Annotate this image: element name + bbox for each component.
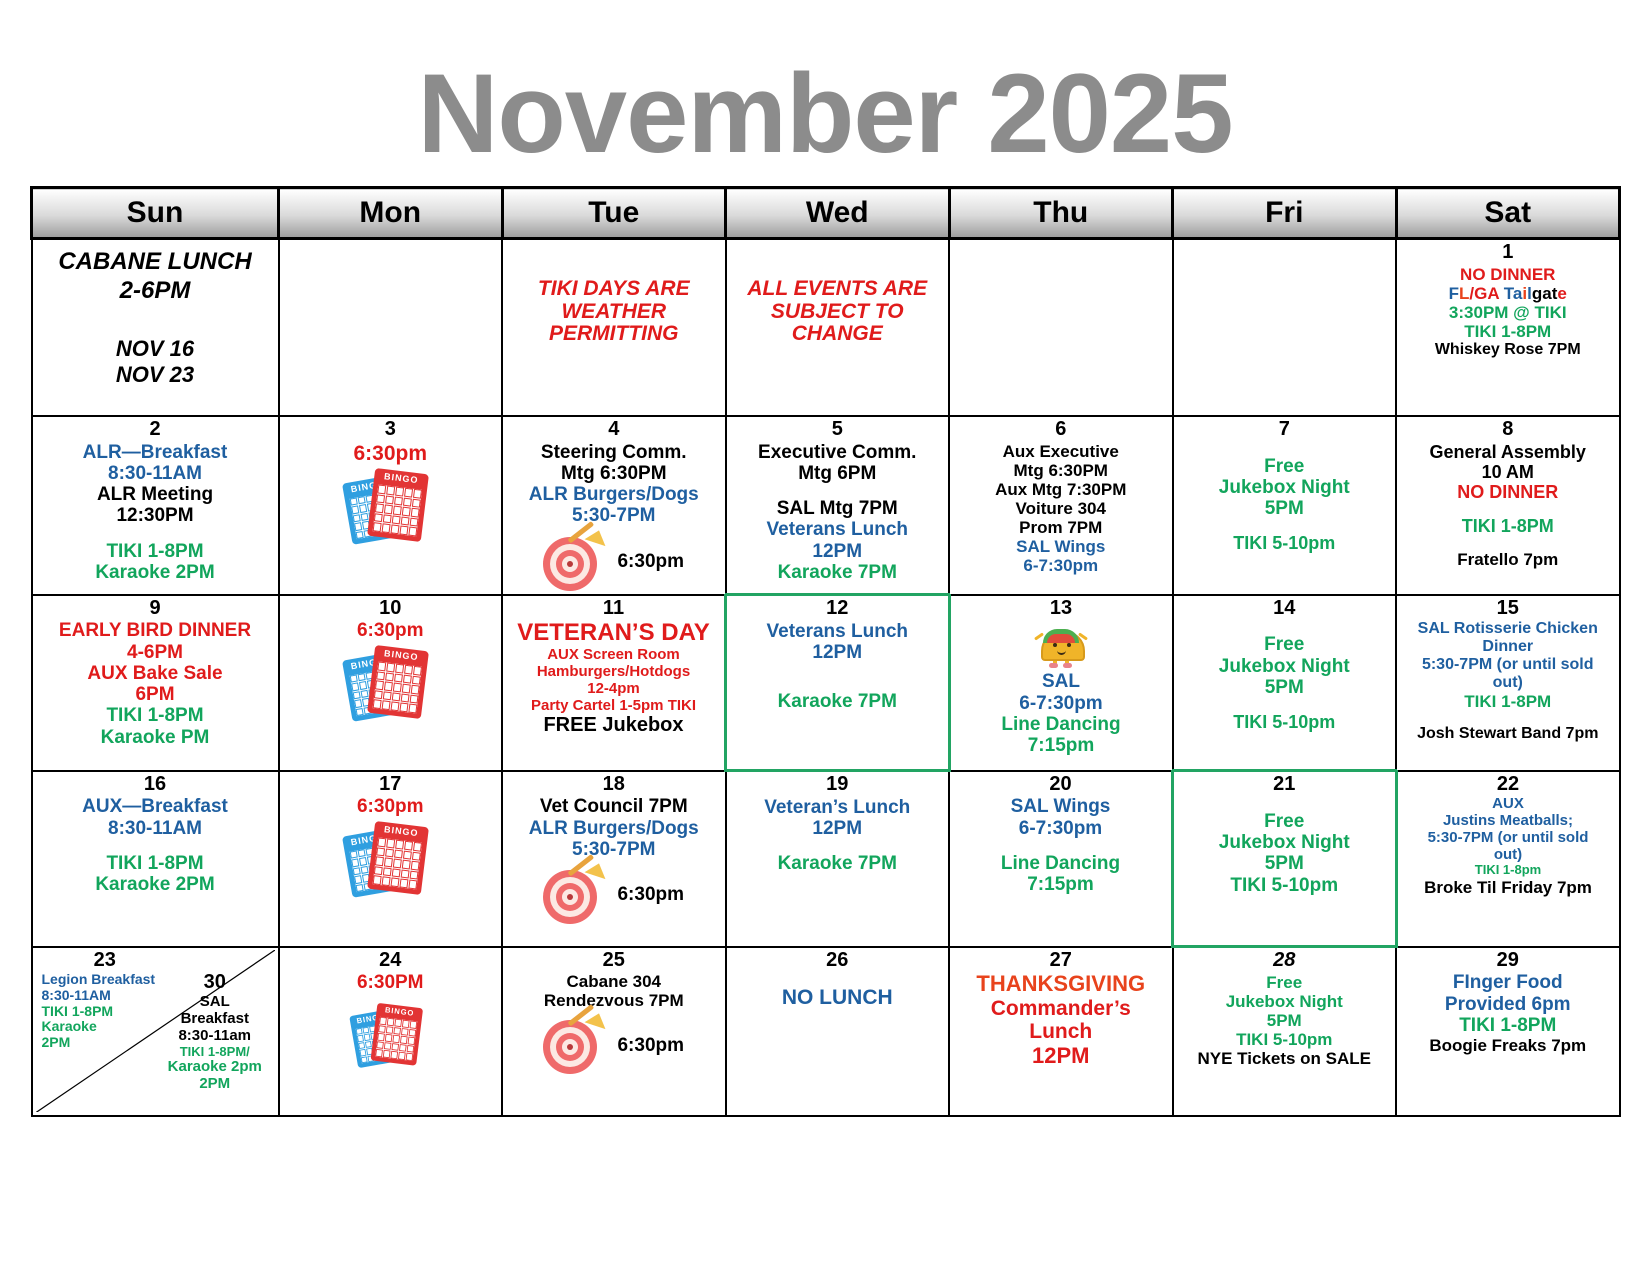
calendar-day-cell-16[interactable]: 16AUX—Breakfast 8:30-11AMTIKI 1-8PM Kara… xyxy=(32,771,279,947)
bingo-icon: BINGOBINGO xyxy=(347,469,433,545)
calendar-day-cell-empty[interactable]: ALL EVENTS ARE SUBJECT TO CHANGE xyxy=(726,239,950,417)
day-23-part[interactable]: 23Legion Breakfast8:30-11AMTIKI 1-8PMKar… xyxy=(36,950,175,1051)
spacer xyxy=(953,839,1168,853)
day-events: NO DINNERFL/GA Tailgate3:30PM @ TIKITIKI… xyxy=(1400,265,1616,359)
day-number-10: 10 xyxy=(283,598,499,620)
calendar-day-cell-24[interactable]: 246:30PMBINGOBINGO xyxy=(279,947,503,1117)
calendar-day-cell-22[interactable]: 22AUXJustins Meatballs;5:30-7PM (or unti… xyxy=(1396,771,1620,947)
spacer xyxy=(1177,519,1393,533)
day-number-28: 28 xyxy=(1177,950,1393,972)
day-number-2: 2 xyxy=(36,419,275,441)
bingo-icon: BINGOBINGO xyxy=(347,646,433,722)
day-number-24: 24 xyxy=(283,950,499,972)
spacer xyxy=(730,663,945,677)
event-line: Aux Mtg 7:30PM Voiture 304 Prom 7PM xyxy=(953,480,1169,537)
calendar-day-cell-12[interactable]: 12Veterans Lunch 12PMKaraoke 7PM xyxy=(726,595,950,771)
calendar-day-cell-28[interactable]: 28Free Jukebox Night 5PMTIKI 5-10pmNYE T… xyxy=(1173,947,1397,1117)
event-line: Veterans Lunch 12PM xyxy=(730,621,945,664)
icon-wrapper xyxy=(954,623,1169,671)
day-events: Free Jukebox Night 5PMTIKI 5-10pmNYE Tic… xyxy=(1177,973,1393,1068)
event-line: 6:30pm xyxy=(617,884,684,905)
calendar-day-cell-8[interactable]: 8General Assembly 10 AMNO DINNERTIKI 1-8… xyxy=(1396,416,1620,595)
event-line: SAL Mtg 7PM xyxy=(730,498,946,519)
day-events: EARLY BIRD DINNER 4-6PM AUX Bake Sale 6P… xyxy=(36,620,275,748)
day-events: Executive Comm. Mtg 6PMSAL Mtg 7PMVetera… xyxy=(730,442,946,584)
event-line: ALR Meeting 12:30PM xyxy=(36,484,275,527)
day-events: Free Jukebox Night 5PMTIKI 5-10pm xyxy=(1177,442,1393,554)
event-line-fl-ga-tailgate: FL/GA Tailgate xyxy=(1400,284,1616,303)
day-events: NO LUNCH xyxy=(730,972,946,1010)
day-number-25: 25 xyxy=(506,950,722,972)
calendar-day-cell-13[interactable]: 13SAL 6-7:30pmLine Dancing 7:15pm xyxy=(949,595,1173,771)
spacer xyxy=(1400,711,1616,725)
event-line: 8:30-11am xyxy=(155,1028,275,1045)
calendar-day-cell-empty[interactable] xyxy=(1173,239,1397,417)
event-line: TIKI 1-8PM Karaoke 2PM xyxy=(36,853,275,896)
spacer xyxy=(1177,797,1392,811)
event-line: ALR—Breakfast 8:30-11AM xyxy=(36,442,275,485)
page-title: November 2025 xyxy=(0,58,1650,170)
day-events: AUX—Breakfast 8:30-11AMTIKI 1-8PM Karaok… xyxy=(36,796,275,895)
event-line: 6:30pm xyxy=(283,796,499,817)
event-line: 12-4pm xyxy=(506,681,721,698)
event-line: TIKI 1-8PM xyxy=(1400,516,1616,536)
dartboard-icon xyxy=(543,866,605,924)
event-line: TIKI 1-8PM xyxy=(1400,1015,1616,1036)
day-number-30: 30 xyxy=(155,972,275,994)
day-events: FInger Food Provided 6pmTIKI 1-8PMBoogie… xyxy=(1400,972,1616,1055)
calendar-day-cell-20[interactable]: 20SAL Wings 6-7:30pmLine Dancing 7:15pm xyxy=(949,771,1173,947)
weekday-header-sun: Sun xyxy=(32,188,279,239)
event-line: TIKI 1-8PM Karaoke 2PM xyxy=(36,541,275,584)
spacer xyxy=(1400,502,1616,516)
weekday-header-thu: Thu xyxy=(949,188,1173,239)
event-line: TIKI 5-10pm xyxy=(1177,875,1392,896)
event-line: Line Dancing 7:15pm xyxy=(953,853,1168,896)
event-line: Karaoke 7PM xyxy=(730,853,946,874)
event-line: ALR Burgers/Dogs 5:30-7PM xyxy=(506,818,722,861)
event-line: General Assembly 10 AM xyxy=(1400,442,1616,482)
calendar-day-cell-10[interactable]: 106:30pmBINGOBINGO xyxy=(279,595,503,771)
event-line: TIKI 1-8PM xyxy=(1400,322,1616,341)
event-line: Free Jukebox Night 5PM xyxy=(1177,456,1393,520)
day-events: Aux Executive Mtg 6:30PMAux Mtg 7:30PM V… xyxy=(953,442,1169,575)
icon-wrapper: BINGOBINGO xyxy=(283,469,499,545)
event-line: Justins Meatballs; xyxy=(1401,813,1616,830)
event-line: Broke Til Friday 7pm xyxy=(1401,878,1616,897)
calendar-page: November 2025 Sun Mon Tue Wed Thu Fri Sa… xyxy=(0,0,1650,1275)
day-30-part[interactable]: 30SAL Breakfast8:30-11amTIKI 1-8PM/Karao… xyxy=(155,972,275,1093)
spacer xyxy=(36,527,275,541)
calendar-week-row: 23Legion Breakfast8:30-11AMTIKI 1-8PMKar… xyxy=(32,947,1620,1117)
day-events: 6:30pmBINGOBINGO xyxy=(283,796,499,897)
day-events: Veteran’s Lunch 12PMKaraoke 7PM xyxy=(730,797,946,875)
day-number-7: 7 xyxy=(1177,419,1393,441)
spacer xyxy=(730,484,946,498)
calendar-day-cell-14[interactable]: 14Free Jukebox Night 5PMTIKI 5-10pm xyxy=(1173,595,1397,771)
event-line: SAL Breakfast xyxy=(155,994,275,1028)
event-line: 3:30PM @ TIKI xyxy=(1400,303,1616,322)
event-line: Commander’s Lunch xyxy=(953,997,1169,1044)
event-line: FInger Food Provided 6pm xyxy=(1400,972,1616,1015)
icon-with-time: 6:30pm xyxy=(506,533,722,591)
weekday-header-sat: Sat xyxy=(1396,188,1620,239)
event-line: Cabane 304 Rendezvous 7PM xyxy=(506,972,722,1010)
event-line: TIKI 5-10pm xyxy=(1177,1030,1393,1049)
dartboard-icon xyxy=(543,1016,605,1074)
event-line: NYE Tickets on SALE xyxy=(1177,1049,1393,1068)
spacer xyxy=(730,839,946,853)
calendar-day-cell-23[interactable]: 23Legion Breakfast8:30-11AMTIKI 1-8PMKar… xyxy=(32,947,279,1117)
event-line: SAL 6-7:30pm xyxy=(954,671,1169,714)
event-line: THANKSGIVING xyxy=(953,972,1169,997)
spacer xyxy=(1177,620,1393,634)
event-line: TIKI 1-8pm xyxy=(1401,863,1616,878)
day-number-21: 21 xyxy=(1177,774,1392,796)
day-number-6: 6 xyxy=(953,419,1169,441)
calendar-day-cell-5[interactable]: 5Executive Comm. Mtg 6PMSAL Mtg 7PMVeter… xyxy=(726,416,950,595)
calendar-day-cell-1[interactable]: 1NO DINNERFL/GA Tailgate3:30PM @ TIKITIK… xyxy=(1396,239,1620,417)
day-number-29: 29 xyxy=(1400,950,1616,972)
spacer xyxy=(1177,442,1393,456)
calendar-week-row: 2ALR—Breakfast 8:30-11AMALR Meeting 12:3… xyxy=(32,416,1620,595)
calendar-day-cell-26[interactable]: 26NO LUNCH xyxy=(726,947,950,1117)
event-line: Steering Comm. Mtg 6:30PM xyxy=(506,442,722,485)
calendar-day-cell-2[interactable]: 2ALR—Breakfast 8:30-11AMALR Meeting 12:3… xyxy=(32,416,279,595)
calendar-day-cell-empty[interactable]: CABANE LUNCH 2-6PMNOV 16 NOV 23 xyxy=(32,239,279,417)
calendar-day-cell-19[interactable]: 19Veteran’s Lunch 12PMKaraoke 7PM xyxy=(726,771,950,947)
event-line: ALR Burgers/Dogs 5:30-7PM xyxy=(506,484,722,527)
event-line: 6:30pm xyxy=(283,620,499,641)
day-events: Free Jukebox Night 5PMTIKI 5-10pm xyxy=(1177,620,1393,732)
event-line: 6:30pm xyxy=(283,442,499,466)
day-number-26: 26 xyxy=(730,950,946,972)
event-line: Whiskey Rose 7PM xyxy=(1400,341,1616,359)
weekday-header-tue: Tue xyxy=(502,188,726,239)
calendar-day-cell-4[interactable]: 4Steering Comm. Mtg 6:30PMALR Burgers/Do… xyxy=(502,416,726,595)
calendar-day-cell-17[interactable]: 176:30pmBINGOBINGO xyxy=(279,771,503,947)
calendar-day-cell-9[interactable]: 9EARLY BIRD DINNER 4-6PM AUX Bake Sale 6… xyxy=(32,595,279,771)
event-line: AUX Screen Room Hamburgers/Hotdogs xyxy=(506,647,721,681)
icon-with-time: 6:30pm xyxy=(506,866,722,924)
day-number-4: 4 xyxy=(506,419,722,441)
spacer xyxy=(1177,698,1393,712)
day-number-27: 27 xyxy=(953,950,1169,972)
calendar-day-cell-7[interactable]: 7Free Jukebox Night 5PMTIKI 5-10pm xyxy=(1173,416,1397,595)
event-line: Free Jukebox Night 5PM xyxy=(1177,811,1392,875)
day-number-20: 20 xyxy=(953,774,1168,796)
day-number-5: 5 xyxy=(730,419,946,441)
event-line: Free Jukebox Night 5PM xyxy=(1177,634,1393,698)
day-events: THANKSGIVINGCommander’s Lunch12PM xyxy=(953,972,1169,1068)
cabane-lunch-note: CABANE LUNCH 2-6PM xyxy=(36,248,275,306)
split-day-cell-23-30: 23Legion Breakfast8:30-11AMTIKI 1-8PMKar… xyxy=(36,950,275,1113)
calendar-day-cell-empty[interactable] xyxy=(949,239,1173,417)
event-line: Vet Council 7PM xyxy=(506,796,722,817)
event-line: TIKI 5-10pm xyxy=(1177,533,1393,553)
spacer xyxy=(1400,536,1616,550)
calendar-day-cell-11[interactable]: 11VETERAN’S DAYAUX Screen Room Hamburger… xyxy=(502,595,726,771)
day-number-12: 12 xyxy=(730,598,945,620)
day-events: 6:30pmBINGOBINGO xyxy=(283,442,499,546)
subject-to-change-note: ALL EVENTS ARE SUBJECT TO CHANGE xyxy=(730,278,946,346)
event-line: Fratello 7pm xyxy=(1400,550,1616,569)
event-line: Executive Comm. Mtg 6PM xyxy=(730,442,946,485)
weekday-header-mon: Mon xyxy=(279,188,503,239)
event-line: Aux Executive Mtg 6:30PM xyxy=(953,442,1169,480)
calendar-day-cell-6[interactable]: 6Aux Executive Mtg 6:30PMAux Mtg 7:30PM … xyxy=(949,416,1173,595)
day-number-14: 14 xyxy=(1177,598,1393,620)
day-events: Free Jukebox Night 5PMTIKI 5-10pm xyxy=(1177,797,1392,896)
day-number-8: 8 xyxy=(1400,419,1616,441)
calendar-day-cell-3[interactable]: 36:30pmBINGOBINGO xyxy=(279,416,503,595)
day-events: AUXJustins Meatballs;5:30-7PM (or until … xyxy=(1401,796,1616,897)
event-line: Veteran’s Lunch 12PM xyxy=(730,797,946,840)
calendar-table: Sun Mon Tue Wed Thu Fri Sat CABANE LUNCH… xyxy=(30,186,1621,1117)
day-number-18: 18 xyxy=(506,774,722,796)
cabane-dates-note: NOV 16 NOV 23 xyxy=(36,336,275,389)
calendar-week-row: CABANE LUNCH 2-6PMNOV 16 NOV 23TIKI DAYS… xyxy=(32,239,1620,417)
event-line: NO DINNER xyxy=(1400,482,1616,502)
calendar-day-cell-empty[interactable] xyxy=(279,239,503,417)
day-number-3: 3 xyxy=(283,419,499,441)
event-line: SAL Rotisserie Chicken Dinner xyxy=(1400,620,1616,656)
day-events: Veterans Lunch 12PMKaraoke 7PM xyxy=(730,621,945,713)
day-events: SAL Rotisserie Chicken Dinner5:30-7PM (o… xyxy=(1400,620,1616,743)
calendar-day-cell-27[interactable]: 27THANKSGIVINGCommander’s Lunch12PM xyxy=(949,947,1173,1117)
event-line: NO DINNER xyxy=(1400,265,1616,284)
day-number-11: 11 xyxy=(506,598,721,620)
weekday-header-wed: Wed xyxy=(726,188,950,239)
event-line: SAL Wings 6-7:30pm xyxy=(953,537,1169,575)
event-line: Karaoke 2pm xyxy=(155,1059,275,1076)
event-line: TIKI 1-8PM xyxy=(1400,692,1616,711)
dartboard-icon xyxy=(543,533,605,591)
day-number-23: 23 xyxy=(36,950,175,972)
event-line: Veterans Lunch 12PM xyxy=(730,519,946,562)
event-line: 6:30PM xyxy=(283,972,499,993)
bingo-icon: BINGOBINGO xyxy=(354,1003,427,1068)
day-events: 6:30pmBINGOBINGO xyxy=(283,620,499,721)
event-line: Free Jukebox Night 5PM xyxy=(1177,973,1393,1030)
day-number-17: 17 xyxy=(283,774,499,796)
day-events: 6:30PMBINGOBINGO xyxy=(283,972,499,1073)
weekday-header-row: Sun Mon Tue Wed Thu Fri Sat xyxy=(32,188,1620,239)
event-line: Josh Stewart Band 7pm xyxy=(1400,725,1616,743)
event-line: Party Cartel 1-5pm TIKI xyxy=(506,698,721,715)
icon-wrapper: BINGOBINGO xyxy=(283,998,499,1074)
event-line: TIKI 1-8PM Karaoke PM xyxy=(36,705,275,748)
calendar-day-cell-25[interactable]: 25Cabane 304 Rendezvous 7PM6:30pm xyxy=(502,947,726,1117)
event-line: FREE Jukebox xyxy=(506,714,721,736)
event-line: 5:30-7PM (or until sold out) xyxy=(1400,656,1616,692)
event-line: Karaoke 7PM xyxy=(730,691,945,712)
event-line: SAL Wings 6-7:30pm xyxy=(953,796,1168,839)
weekday-header-fri: Fri xyxy=(1173,188,1397,239)
day-number-1: 1 xyxy=(1400,242,1616,264)
day-events: VETERAN’S DAYAUX Screen Room Hamburgers/… xyxy=(506,620,721,736)
event-line: 6:30pm xyxy=(617,551,684,572)
day-number-15: 15 xyxy=(1400,598,1616,620)
spacer xyxy=(730,972,946,986)
event-line: AUX—Breakfast 8:30-11AM xyxy=(36,796,275,839)
tiki-weather-note: TIKI DAYS ARE WEATHER PERMITTING xyxy=(506,278,722,346)
taco-icon xyxy=(1034,623,1088,671)
calendar-week-row: 16AUX—Breakfast 8:30-11AMTIKI 1-8PM Kara… xyxy=(32,771,1620,947)
day-number-13: 13 xyxy=(954,598,1169,620)
day-number-22: 22 xyxy=(1401,774,1616,796)
day-events: Steering Comm. Mtg 6:30PMALR Burgers/Dog… xyxy=(506,442,722,591)
day-events: General Assembly 10 AMNO DINNERTIKI 1-8P… xyxy=(1400,442,1616,570)
event-line: EARLY BIRD DINNER 4-6PM AUX Bake Sale 6P… xyxy=(36,620,275,705)
calendar-week-row: 9EARLY BIRD DINNER 4-6PM AUX Bake Sale 6… xyxy=(32,595,1620,771)
event-line: 5:30-7PM (or until sold out) xyxy=(1401,830,1616,864)
event-line: VETERAN’S DAY xyxy=(506,620,721,647)
event-line: Line Dancing 7:15pm xyxy=(954,714,1169,757)
spacer xyxy=(730,677,945,691)
calendar-day-cell-empty[interactable]: TIKI DAYS ARE WEATHER PERMITTING xyxy=(502,239,726,417)
icon-wrapper: BINGOBINGO xyxy=(283,646,499,722)
icon-wrapper: BINGOBINGO xyxy=(283,822,499,898)
day-events: Cabane 304 Rendezvous 7PM6:30pm xyxy=(506,972,722,1074)
event-line: TIKI 5-10pm xyxy=(1177,712,1393,732)
day-number-16: 16 xyxy=(36,774,275,796)
calendar-day-cell-15[interactable]: 15SAL Rotisserie Chicken Dinner5:30-7PM … xyxy=(1396,595,1620,771)
calendar-day-cell-18[interactable]: 18Vet Council 7PMALR Burgers/Dogs 5:30-7… xyxy=(502,771,726,947)
event-line: AUX xyxy=(1401,796,1616,813)
calendar-day-cell-29[interactable]: 29FInger Food Provided 6pmTIKI 1-8PMBoog… xyxy=(1396,947,1620,1117)
event-line: Karaoke 7PM xyxy=(730,562,946,583)
spacer xyxy=(36,839,275,853)
event-line: 12PM xyxy=(953,1044,1169,1069)
bingo-icon: BINGOBINGO xyxy=(347,822,433,898)
day-events: SAL 6-7:30pmLine Dancing 7:15pm xyxy=(954,623,1169,756)
day-events: Vet Council 7PMALR Burgers/Dogs 5:30-7PM… xyxy=(506,796,722,924)
event-line: Boogie Freaks 7pm xyxy=(1400,1036,1616,1055)
day-number-9: 9 xyxy=(36,598,275,620)
event-line: 2PM xyxy=(155,1076,275,1093)
day-events: SAL Wings 6-7:30pmLine Dancing 7:15pm xyxy=(953,796,1168,895)
calendar-day-cell-21[interactable]: 21Free Jukebox Night 5PMTIKI 5-10pm xyxy=(1173,771,1397,947)
icon-with-time: 6:30pm xyxy=(506,1016,722,1074)
event-line: TIKI 1-8PM/ xyxy=(155,1045,275,1060)
day-number-19: 19 xyxy=(730,774,946,796)
day-events: ALR—Breakfast 8:30-11AMALR Meeting 12:30… xyxy=(36,442,275,584)
event-line: 6:30pm xyxy=(617,1035,684,1056)
event-line: NO LUNCH xyxy=(730,986,946,1010)
